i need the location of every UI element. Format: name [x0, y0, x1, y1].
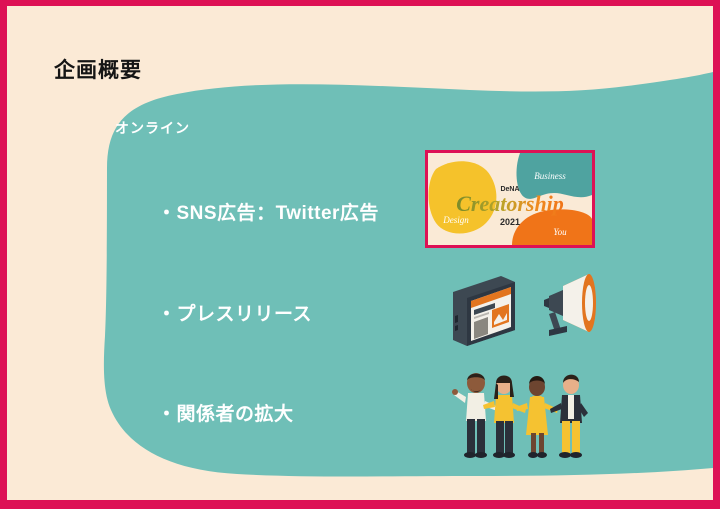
- banner-year-text: 2021: [500, 217, 520, 227]
- bullet-item: ・SNS広告：Twitter広告: [157, 198, 379, 225]
- creatorship-banner-graphic: DeNA Creatorship 2021 Design Business: [428, 153, 592, 245]
- banner-tag-you-text: You: [553, 227, 567, 237]
- banner-headline-text: Creatorship: [456, 191, 564, 216]
- slide-canvas: 企画概要 オンライン ・SNS広告：Twitter広告 ・プレスリリース ・関係…: [7, 6, 713, 500]
- page-title: 企画概要: [54, 54, 142, 84]
- press-release-illustration: [445, 270, 600, 348]
- banner-tag-business-text: Business: [534, 171, 566, 181]
- megaphone-icon: [544, 274, 596, 336]
- tablet-icon: [453, 276, 515, 346]
- person-4: [550, 375, 588, 458]
- creatorship-banner-image: DeNA Creatorship 2021 Design Business: [425, 150, 595, 248]
- section-label-online: オンライン: [115, 118, 190, 138]
- stakeholders-illustration: [452, 363, 602, 463]
- person-2: [483, 376, 526, 459]
- person-1: [452, 373, 498, 458]
- people-holding-hands-graphic: [452, 363, 602, 463]
- person-3: [516, 376, 558, 458]
- bullet-item: ・プレスリリース: [157, 299, 312, 326]
- tablet-megaphone-graphic: [445, 270, 600, 348]
- bullet-item: ・関係者の拡大: [157, 399, 294, 426]
- slide-frame: 企画概要 オンライン ・SNS広告：Twitter広告 ・プレスリリース ・関係…: [0, 0, 720, 509]
- banner-tag-design-text: Design: [442, 215, 469, 225]
